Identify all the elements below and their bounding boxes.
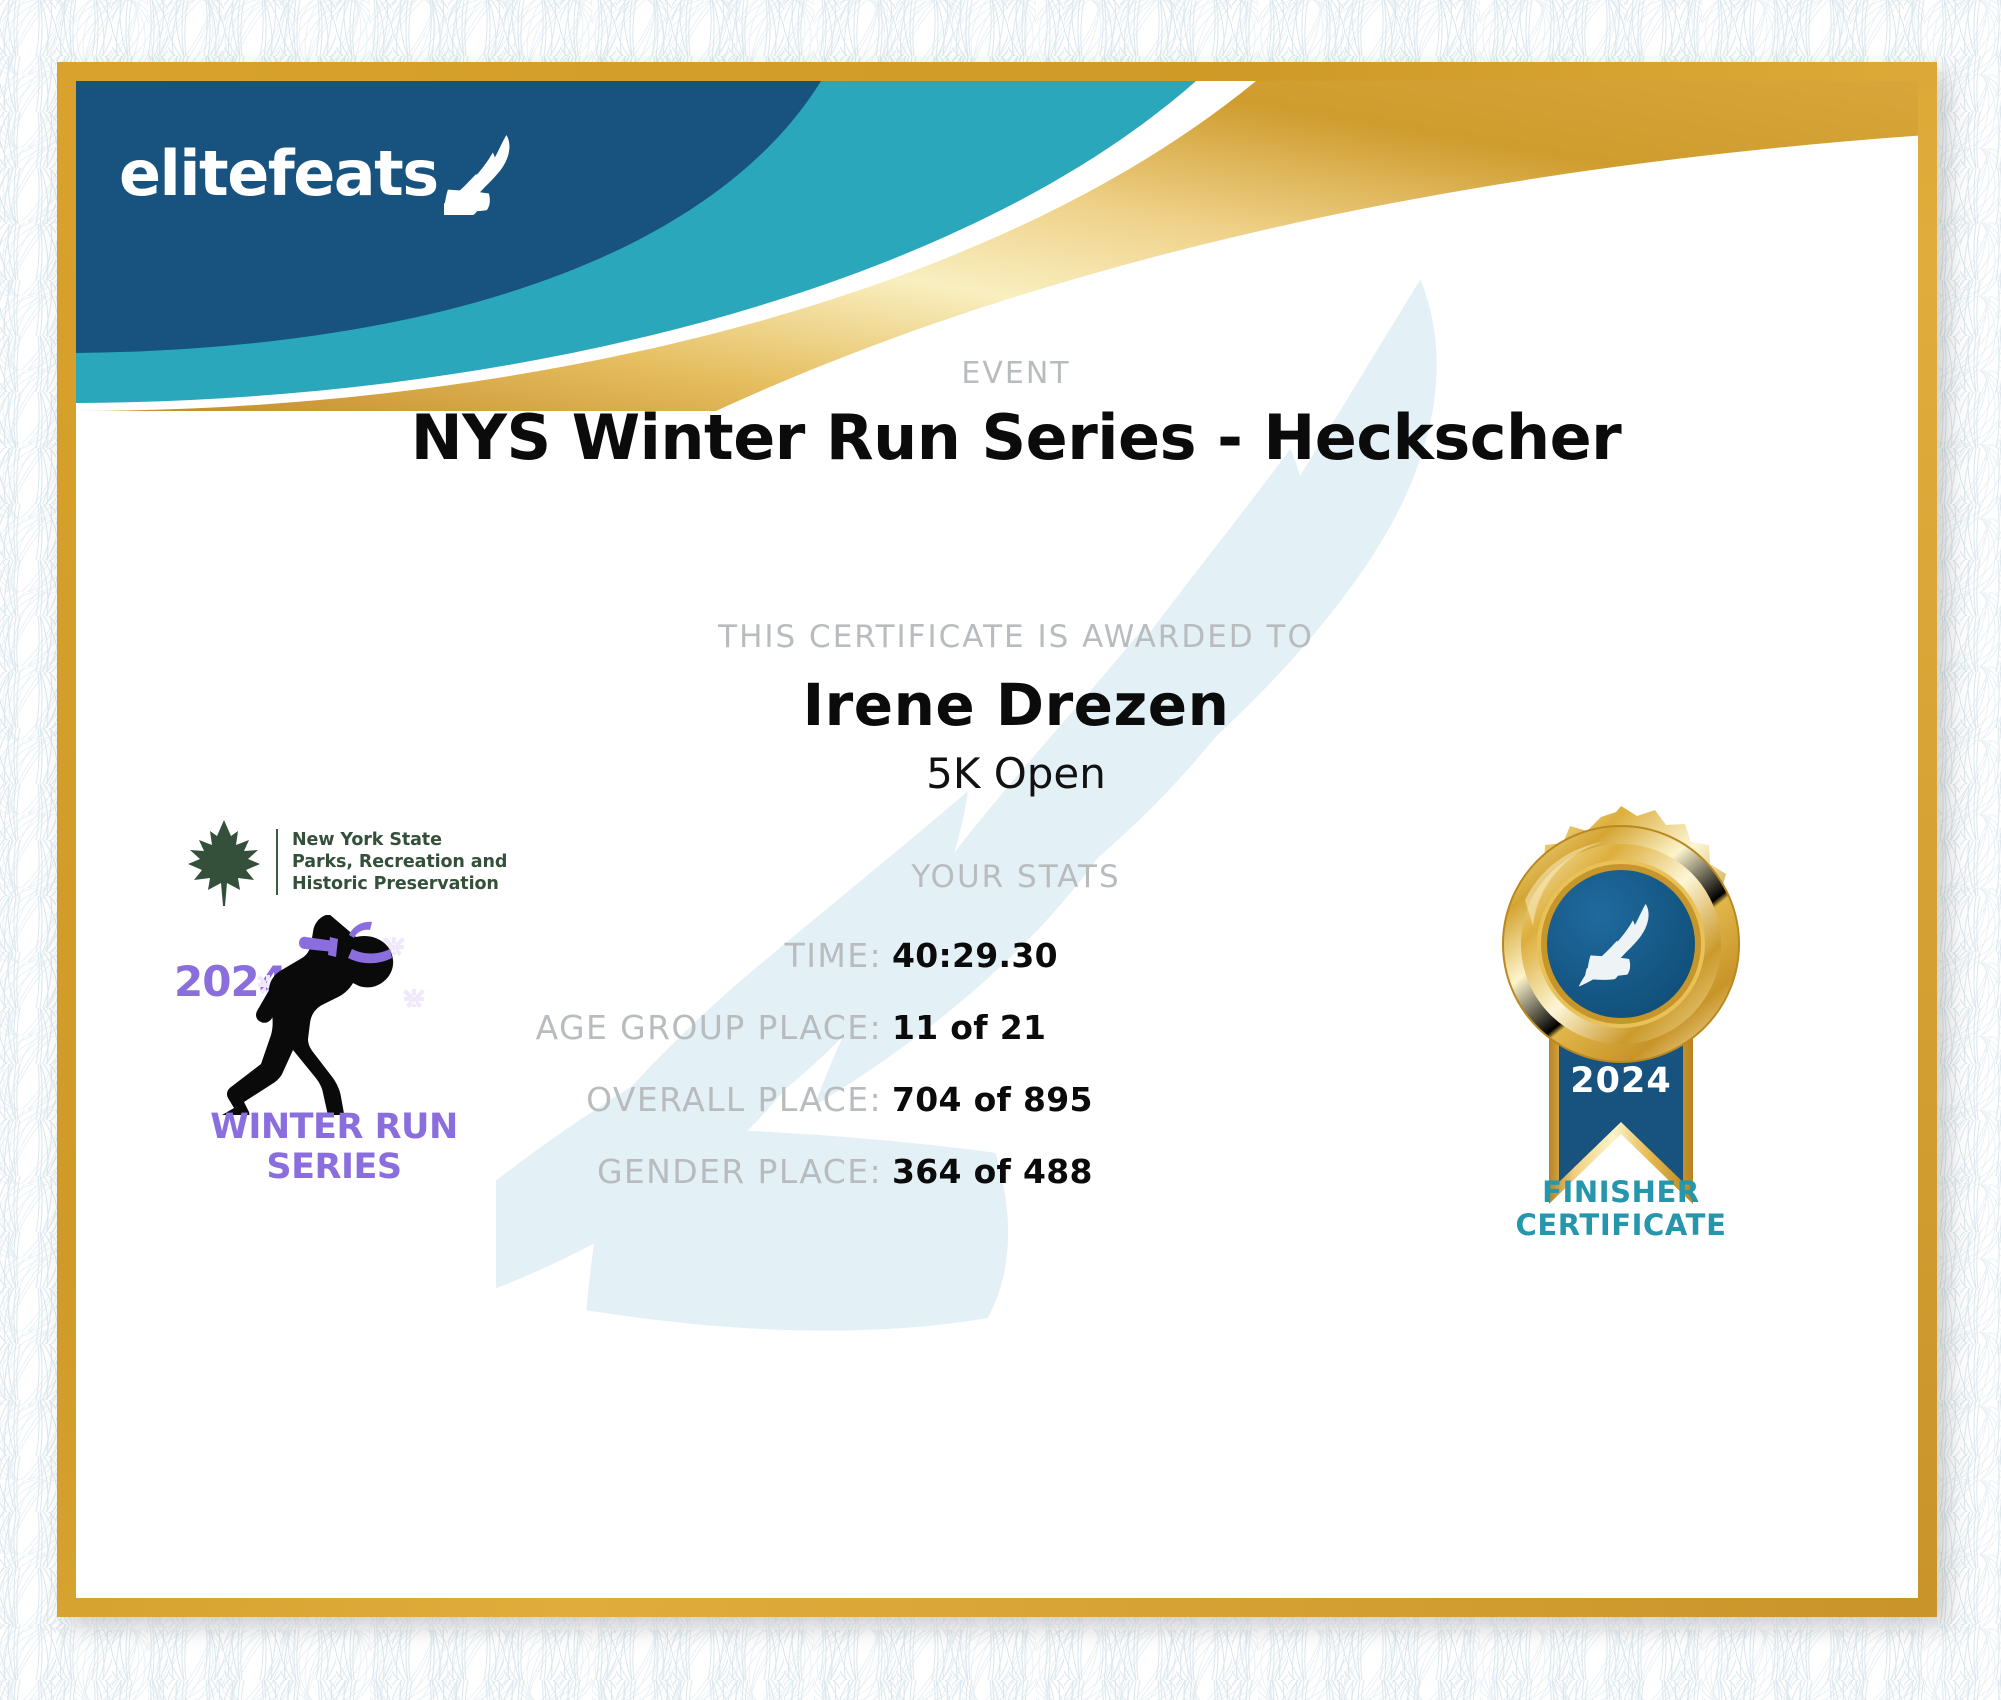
stat-value-overall-place: 704 of 895	[892, 1080, 1093, 1119]
event-title: NYS Winter Run Series - Heckscher	[76, 401, 1918, 474]
stat-label-overall-place: OVERALL PLACE:	[586, 1080, 882, 1119]
nys-parks-logo: New York State Parks, Recreation and His…	[186, 816, 516, 908]
nys-parks-line-3: Historic Preservation	[292, 873, 507, 895]
finisher-caption-line-2: CERTIFICATE	[1446, 1209, 1796, 1242]
winter-run-series-title: WINTER RUN SERIES	[158, 1107, 510, 1187]
runner-silhouette-icon	[206, 915, 458, 1115]
stat-value-gender-place: 364 of 488	[892, 1152, 1093, 1191]
event-label: EVENT	[76, 356, 1918, 391]
recipient-division: 5K Open	[76, 749, 1918, 798]
nys-parks-logo-text: New York State Parks, Recreation and His…	[292, 829, 507, 895]
maple-leaf-icon	[186, 818, 262, 906]
winter-run-series-logo: 2024	[158, 911, 510, 1161]
nys-parks-line-2: Parks, Recreation and	[292, 851, 507, 873]
stat-label-time: TIME:	[785, 936, 882, 975]
awarded-to-label: THIS CERTIFICATE IS AWARDED TO	[76, 619, 1918, 655]
certificate-page: elitefeats EVENT NYS Winter Run Series -…	[0, 0, 2001, 1700]
certificate-card: elitefeats EVENT NYS Winter Run Series -…	[57, 62, 1937, 1617]
elitefeats-logo: elitefeats	[119, 133, 522, 215]
svg-text:2024: 2024	[1570, 1061, 1671, 1101]
stat-label-gender-place: GENDER PLACE:	[597, 1152, 882, 1191]
stat-value-age-group-place: 11 of 21	[892, 1008, 1046, 1047]
stat-value-time: 40:29.30	[892, 936, 1058, 975]
winged-foot-icon	[444, 133, 522, 215]
brand-wordmark: elitefeats	[119, 143, 438, 205]
logo-divider	[276, 829, 278, 895]
stat-label-age-group-place: AGE GROUP PLACE:	[536, 1008, 882, 1047]
nys-parks-line-1: New York State	[292, 829, 507, 851]
finisher-certificate-caption: FINISHER CERTIFICATE	[1446, 1176, 1796, 1243]
recipient-name: Irene Drezen	[76, 671, 1918, 739]
finisher-caption-line-1: FINISHER	[1446, 1176, 1796, 1209]
